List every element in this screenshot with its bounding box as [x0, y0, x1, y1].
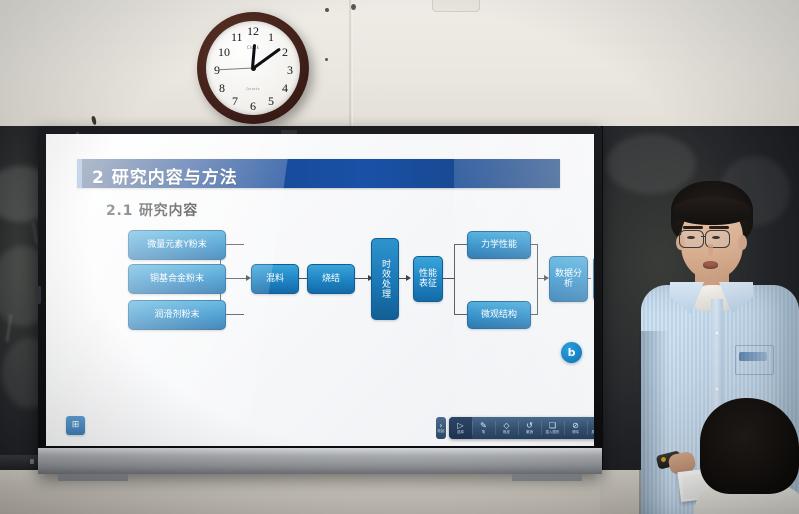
connector [454, 314, 468, 315]
clock-minute-hand [252, 48, 280, 69]
node-conclusion[interactable]: 得出结论 [593, 256, 594, 302]
toolbar-handle-label: 收起 [438, 430, 445, 434]
tool-shape-button[interactable]: ❏ 插入图形 [541, 417, 564, 439]
node-microstructure[interactable]: 微观结构 [467, 301, 531, 329]
clock-face: Clock Quartz 12 1 2 3 4 5 6 7 8 9 10 11 [206, 21, 300, 115]
node-characterization[interactable]: 性能表征 [413, 256, 443, 302]
wall-speck [325, 58, 328, 61]
pen-icon: ✎ [480, 422, 487, 430]
node-aging[interactable]: 时效处理 [371, 238, 399, 320]
node-label: 数据分析 [552, 269, 585, 289]
clock-numeral-12: 12 [247, 25, 259, 37]
expand-icon: ⊞ [72, 421, 80, 430]
tool-label: 清除 [572, 431, 579, 435]
clock-numeral-2: 2 [282, 46, 288, 58]
node-label: 铜基合金粉末 [150, 274, 204, 284]
shirt-button [715, 331, 719, 335]
wall-speck [351, 4, 356, 10]
node-label: 烧结 [322, 274, 340, 284]
presenter-eyebrow-right [709, 226, 729, 229]
wall-seam-highlight [352, 0, 353, 135]
wall-seam [349, 0, 351, 135]
slide-screen[interactable]: 2 研究内容与方法 2.1 研究内容 [46, 134, 594, 446]
toolbar-collapse-handle[interactable]: › 收起 [436, 417, 446, 439]
toolbar-tools: ▷ 选择 ✎ 笔 ◇ 橡皮 ↺ 撤销 [449, 417, 594, 439]
brand-logo-icon[interactable]: b [561, 342, 582, 363]
presenter-hair-fringe [673, 197, 751, 225]
shape-icon: ❏ [549, 422, 556, 430]
node-label: 性能表征 [416, 269, 440, 289]
back-wall [0, 0, 799, 135]
tool-label: 橡皮 [503, 431, 510, 435]
display-stand-left [58, 474, 128, 481]
clock-numeral-8: 8 [219, 82, 225, 94]
node-label: 力学性能 [481, 240, 517, 250]
connector-arrow [406, 275, 411, 281]
clock-numeral-5: 5 [268, 95, 274, 107]
shirt-button [715, 387, 719, 391]
node-mixing[interactable]: 混料 [251, 264, 299, 294]
tool-clear-button[interactable]: ⊘ 清除 [564, 417, 587, 439]
clock-numeral-11: 11 [231, 31, 243, 43]
wall-clock: Clock Quartz 12 1 2 3 4 5 6 7 8 9 10 11 [197, 12, 309, 124]
classroom-scene: Clock Quartz 12 1 2 3 4 5 6 7 8 9 10 11 [0, 0, 799, 514]
tool-label: 笔 [482, 431, 486, 435]
tool-label: 插入图形 [546, 431, 560, 435]
connector [454, 244, 455, 314]
foreground-student [700, 398, 799, 514]
expand-button[interactable]: ⊞ [66, 416, 85, 435]
clock-numeral-1: 1 [268, 31, 274, 43]
presenter-ear-right [738, 235, 747, 250]
node-data-analysis[interactable]: 数据分析 [549, 256, 588, 302]
clear-icon: ⊘ [572, 422, 579, 430]
presenter-glasses-bridge [701, 236, 706, 237]
node-label: 时效处理 [380, 259, 390, 299]
connector [537, 244, 538, 315]
undo-icon: ↺ [526, 422, 533, 430]
clock-center-cap [251, 66, 256, 71]
display-stand-right [512, 474, 582, 481]
shirt-pocket-logo [739, 352, 767, 361]
node-label: 微量元素Y粉末 [147, 240, 207, 250]
display-bottom-bezel: SEEWO [38, 448, 602, 474]
clock-numeral-4: 4 [282, 82, 288, 94]
annotation-toolbar: › 收起 ▷ 选择 ✎ 笔 ◇ 橡皮 [436, 417, 594, 439]
tool-select-button[interactable]: ▷ 选择 [449, 417, 472, 439]
clock-numeral-7: 7 [232, 95, 238, 107]
presenter-eyebrow-left [683, 226, 703, 229]
wall-speck [325, 8, 329, 12]
node-mechanical-properties[interactable]: 力学性能 [467, 231, 531, 259]
node-label: 润滑剂粉末 [154, 310, 199, 320]
presenter-arm-shadow [639, 331, 669, 514]
tool-label: 撤销 [526, 431, 533, 435]
clock-quartz-label: Quartz [246, 87, 260, 91]
tool-eraser-button[interactable]: ◇ 橡皮 [495, 417, 518, 439]
tray-screw [30, 459, 34, 464]
student-hair [700, 398, 799, 494]
presenter-nose [708, 244, 713, 256]
cursor-icon: ▷ [457, 422, 463, 430]
eraser-icon: ◇ [503, 422, 509, 430]
node-label: 微观结构 [481, 310, 517, 320]
flowchart: 微量元素Y粉末 铜基合金粉末 润滑剂粉末 混料 烧结 时效处理 [46, 134, 594, 446]
clock-numeral-6: 6 [250, 100, 256, 112]
node-trace-element-y[interactable]: 微量元素Y粉末 [128, 230, 226, 260]
tool-capture-button[interactable]: ⎘ 屏幕批注 [587, 417, 594, 439]
node-sintering[interactable]: 烧结 [307, 264, 355, 294]
clock-second-hand [218, 68, 253, 71]
tool-label: 选择 [457, 431, 464, 435]
display-side-button[interactable] [36, 286, 41, 304]
node-copper-alloy[interactable]: 铜基合金粉末 [128, 264, 226, 294]
presenter-mouth [703, 261, 718, 269]
ceiling-fixture [432, 0, 480, 12]
node-lubricant[interactable]: 润滑剂粉末 [128, 300, 226, 330]
tool-undo-button[interactable]: ↺ 撤销 [518, 417, 541, 439]
tool-label: 屏幕批注 [592, 431, 594, 435]
clock-numeral-10: 10 [218, 46, 230, 58]
presenter-glasses-left-lens [679, 230, 704, 248]
interactive-smart-display: 2 研究内容与方法 2.1 研究内容 [38, 126, 602, 474]
tool-pen-button[interactable]: ✎ 笔 [472, 417, 495, 439]
node-label: 混料 [266, 274, 284, 284]
connector [454, 244, 468, 245]
clock-numeral-3: 3 [287, 64, 293, 76]
